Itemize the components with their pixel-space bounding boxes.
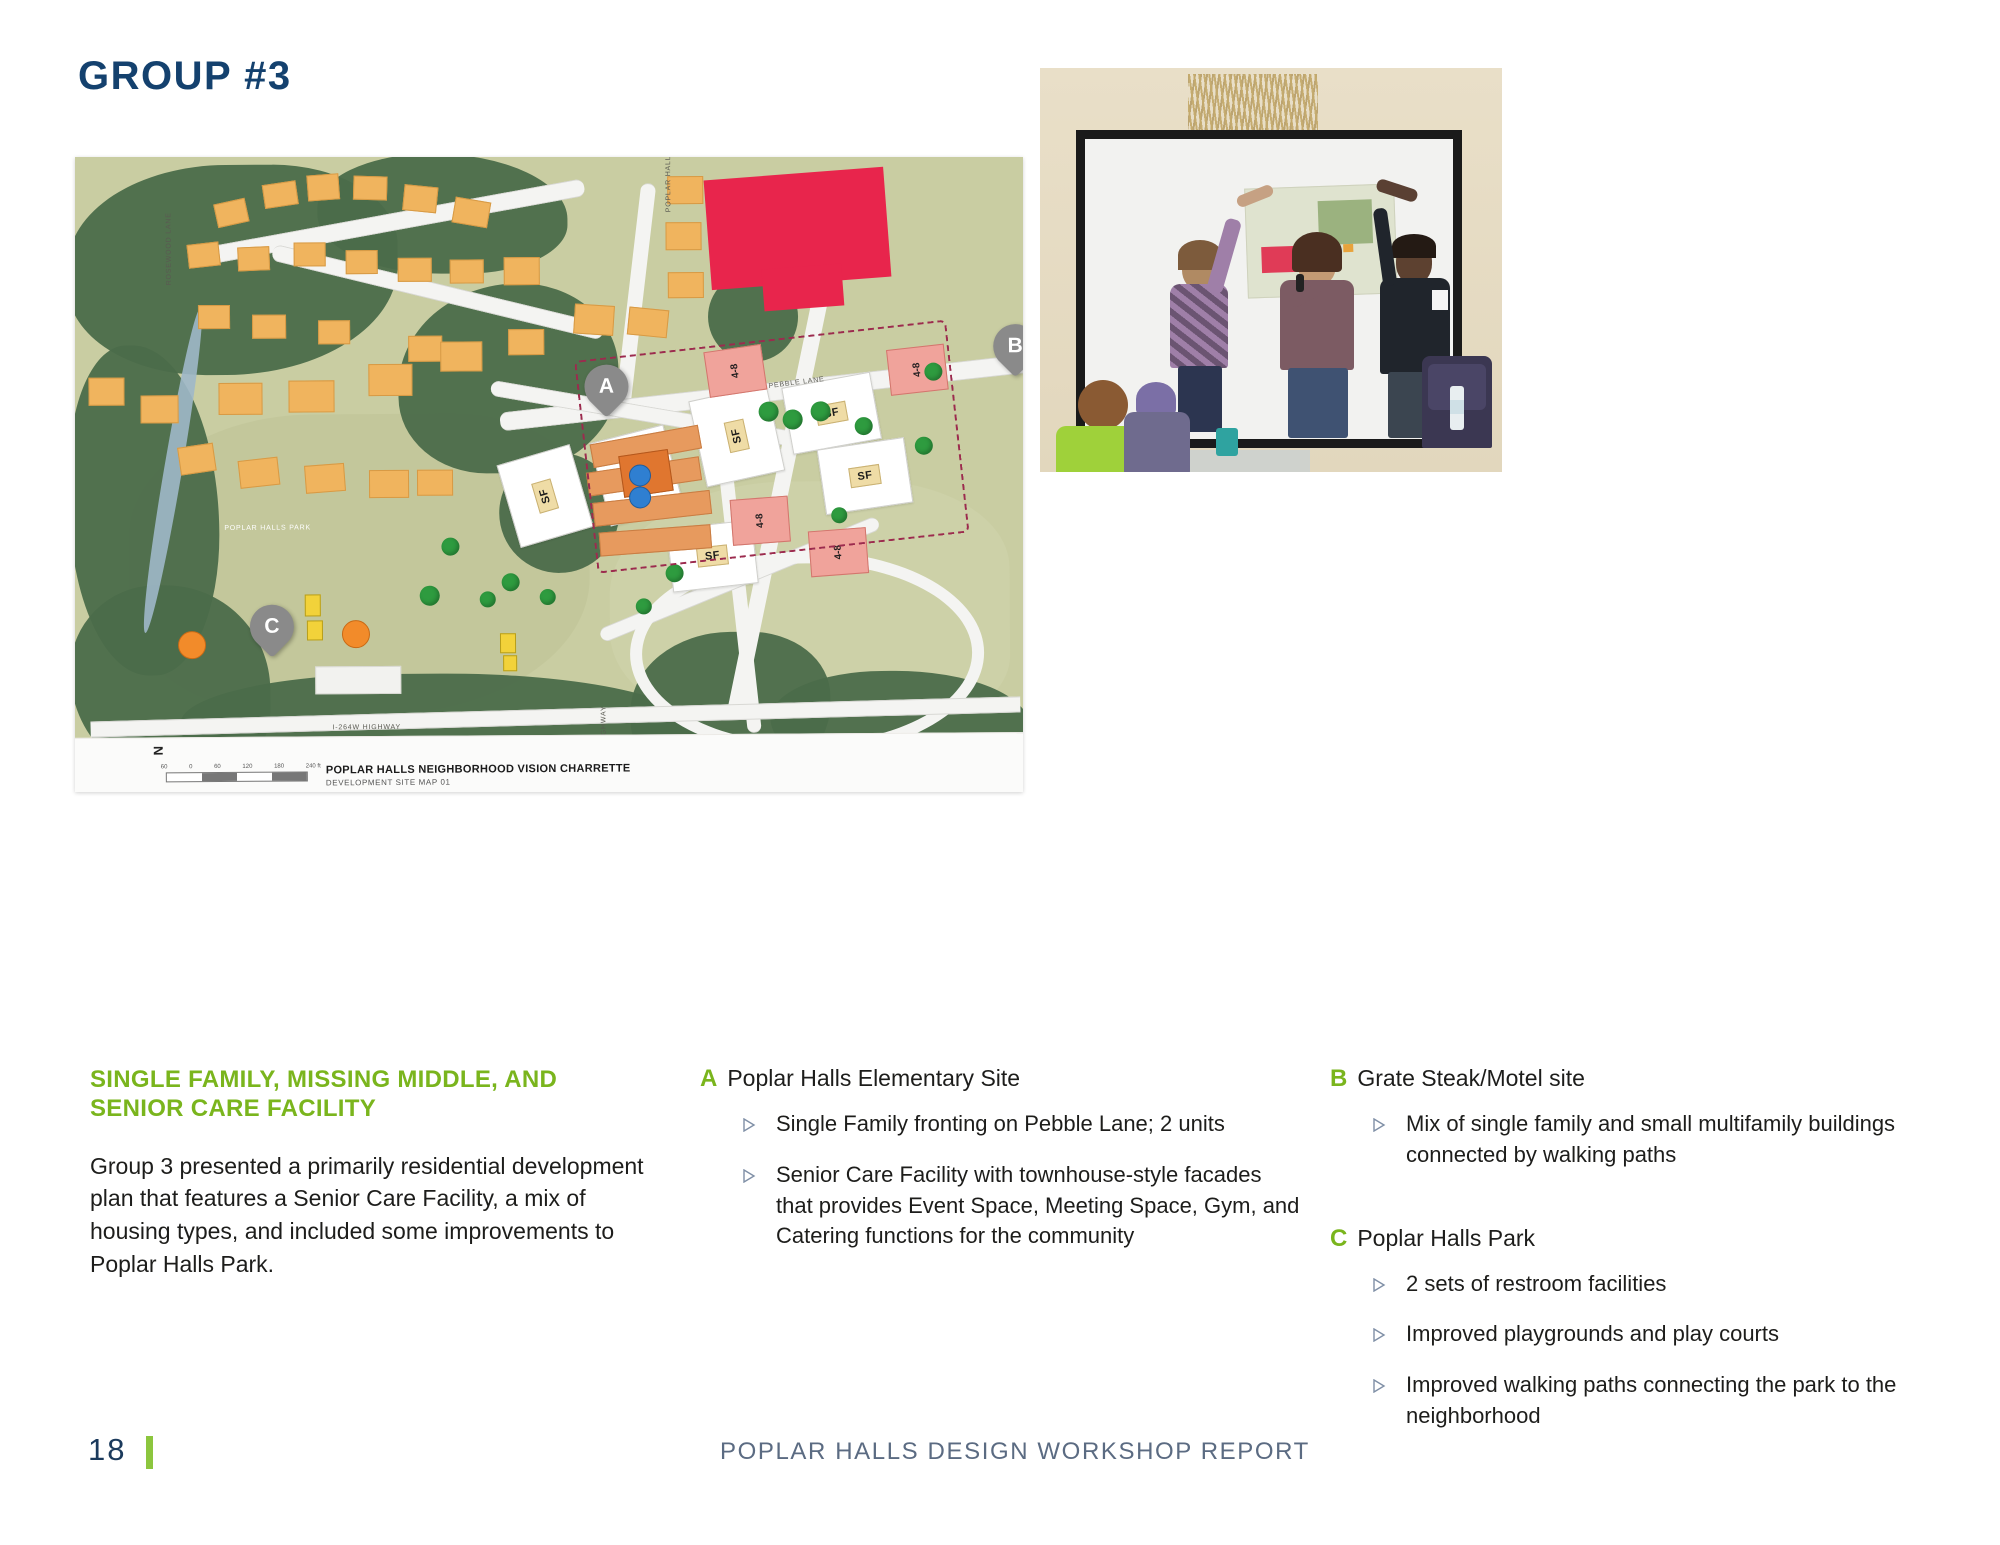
map-sign-icon-3 xyxy=(500,633,516,653)
list-item: C Poplar Halls Park 2 sets of restroom f… xyxy=(1330,1225,1920,1432)
scale-tick: 120 xyxy=(242,764,252,770)
item-column-a: A Poplar Halls Elementary Site Single Fa… xyxy=(700,1065,1300,1274)
item-column-bc: B Grate Steak/Motel site Mix of single f… xyxy=(1330,1065,1920,1454)
map-sign-icon-2 xyxy=(307,620,323,640)
photo-water-bottle xyxy=(1450,386,1464,430)
triangle-bullet-icon xyxy=(742,1118,756,1140)
list-item: 2 sets of restroom facilities xyxy=(1330,1269,1920,1300)
triangle-bullet-icon xyxy=(1372,1278,1386,1300)
map-label-i264w: I-264W HIGHWAY xyxy=(333,724,401,731)
map-marker-a-letter: A xyxy=(584,365,628,409)
bullet-text: Single Family fronting on Pebble Lane; 2… xyxy=(776,1109,1225,1140)
scale-tick: 180 xyxy=(274,764,284,770)
triangle-bullet-icon xyxy=(1372,1379,1386,1432)
footer-report-title: POPLAR HALLS DESIGN WORKSHOP REPORT xyxy=(720,1438,1310,1466)
footer-accent-rule xyxy=(146,1436,153,1469)
summary-column: SINGLE FAMILY, MISSING MIDDLE, AND SENIO… xyxy=(90,1065,650,1280)
map-sign-icon-1 xyxy=(305,594,321,616)
item-title-a: Poplar Halls Elementary Site xyxy=(727,1065,1020,1092)
bullet-text: Improved playgrounds and play courts xyxy=(1406,1319,1779,1350)
list-item: B Grate Steak/Motel site Mix of single f… xyxy=(1330,1065,1920,1171)
scale-tick: 240 ft xyxy=(306,763,321,769)
map-label-park: POPLAR HALLS PARK xyxy=(224,524,311,532)
map-title-block: POPLAR HALLS NEIGHBORHOOD VISION CHARRET… xyxy=(326,763,631,788)
list-item: Improved walking paths connecting the pa… xyxy=(1330,1370,1920,1432)
name-badge xyxy=(1432,290,1448,310)
list-item: A Poplar Halls Elementary Site Single Fa… xyxy=(700,1065,1300,1252)
list-item: Senior Care Facility with townhouse-styl… xyxy=(700,1160,1300,1252)
page-number: 18 xyxy=(88,1432,126,1468)
item-title-b: Grate Steak/Motel site xyxy=(1357,1065,1585,1092)
map-caption-subtitle: DEVELOPMENT SITE MAP 01 xyxy=(326,777,631,788)
map-label-rosewood-lane: ROSEWOOD LANE xyxy=(165,212,172,285)
scale-tick: 60 xyxy=(161,764,168,770)
bullet-text: Mix of single family and small multifami… xyxy=(1406,1109,1920,1171)
bullet-text: Improved walking paths connecting the pa… xyxy=(1406,1370,1920,1432)
map-caption-title: POPLAR HALLS NEIGHBORHOOD VISION CHARRET… xyxy=(326,763,631,777)
list-item: Single Family fronting on Pebble Lane; 2… xyxy=(700,1109,1300,1140)
scale-tick: 60 xyxy=(214,764,221,770)
map-scale-ticks: 60 0 60 120 180 240 ft xyxy=(161,763,321,770)
map-scale-bar xyxy=(166,771,308,782)
site-plan-map: SF SF SF SF SF SF 4-8 4-8 xyxy=(75,157,1023,792)
map-red-building-wing xyxy=(761,263,844,311)
triangle-bullet-icon xyxy=(1372,1118,1386,1171)
summary-paragraph: Group 3 presented a primarily residentia… xyxy=(90,1150,650,1281)
map-marker-c-letter: C xyxy=(250,605,294,649)
map-restroom-building xyxy=(315,666,401,695)
map-marker-b-letter: B xyxy=(993,324,1023,368)
map-north-arrow: N xyxy=(151,746,166,755)
map-playground-icon-2 xyxy=(342,620,370,648)
map-sign-icon-4 xyxy=(503,655,517,671)
item-letter-a: A xyxy=(700,1065,717,1093)
map-playground-icon-1 xyxy=(178,631,206,659)
section-heading: SINGLE FAMILY, MISSING MIDDLE, AND SENIO… xyxy=(90,1065,650,1124)
map-marker-a[interactable]: A xyxy=(575,356,637,418)
scale-tick: 0 xyxy=(189,764,192,770)
item-letter-c: C xyxy=(1330,1225,1347,1253)
map-marker-c[interactable]: C xyxy=(241,596,303,658)
photo-table xyxy=(1190,450,1310,472)
map-tag-sf: SF xyxy=(531,478,559,513)
item-title-c: Poplar Halls Park xyxy=(1357,1225,1535,1252)
item-letter-b: B xyxy=(1330,1065,1347,1093)
workshop-photo xyxy=(1040,68,1502,472)
microphone-icon xyxy=(1296,274,1304,292)
photo-cup xyxy=(1216,428,1238,456)
triangle-bullet-icon xyxy=(1372,1328,1386,1350)
list-item: Improved playgrounds and play courts xyxy=(1330,1319,1920,1350)
page-footer: 18 POPLAR HALLS DESIGN WORKSHOP REPORT xyxy=(0,1432,2000,1492)
triangle-bullet-icon xyxy=(742,1169,756,1252)
page-title: GROUP #3 xyxy=(78,54,292,99)
bullet-text: 2 sets of restroom facilities xyxy=(1406,1269,1666,1300)
list-item: Mix of single family and small multifami… xyxy=(1330,1109,1920,1171)
bullet-text: Senior Care Facility with townhouse-styl… xyxy=(776,1160,1300,1252)
map-label-poplar-halls-drive: POPLAR HALLS DRIVE xyxy=(665,157,673,212)
